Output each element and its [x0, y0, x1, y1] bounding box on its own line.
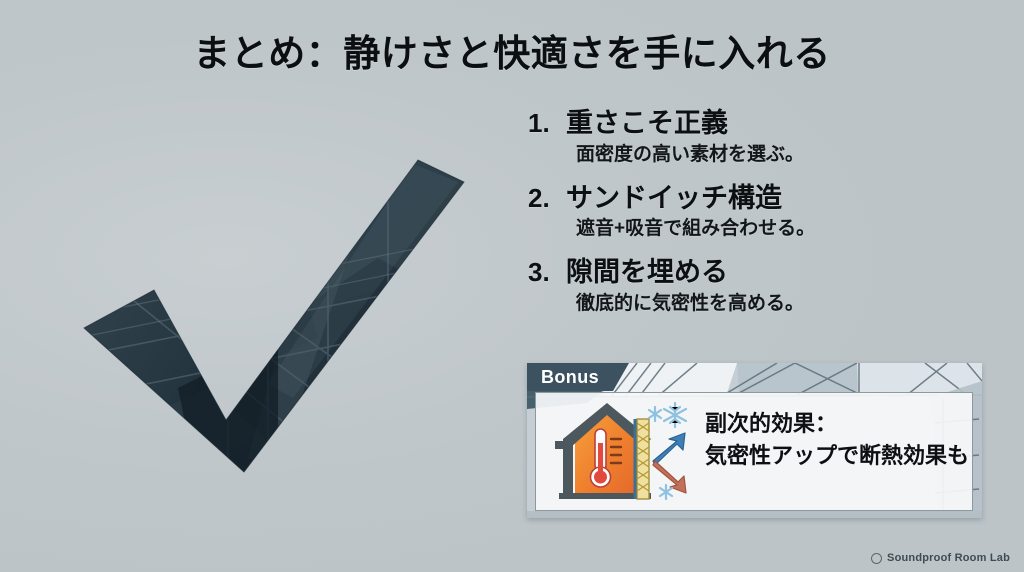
checkmark-photo — [78, 138, 470, 486]
copyright-icon — [871, 553, 882, 564]
list-item: 3. 隙間を埋める 徹底的に気密性を高める。 — [528, 257, 948, 316]
footer-copyright: Soundproof Room Lab — [871, 552, 1010, 564]
list-item: 2. サンドイッチ構造 遮音+吸音で組み合わせる。 — [528, 183, 948, 242]
list-item-number: 1. — [528, 108, 566, 139]
summary-list: 1. 重さこそ正義 面密度の高い素材を選ぶ。 2. サンドイッチ構造 遮音+吸音… — [528, 108, 948, 332]
bonus-card: Bonus — [527, 363, 982, 518]
bonus-text: 副次的効果： 気密性アップで断熱効果も — [705, 408, 969, 472]
copyright-text: Soundproof Room Lab — [887, 552, 1010, 564]
list-item-subtext: 徹底的に気密性を高める。 — [576, 292, 948, 316]
list-item-number: 3. — [528, 257, 566, 288]
bonus-text-line2: 気密性アップで断熱効果も — [705, 440, 969, 472]
list-item-heading: 重さこそ正義 — [566, 108, 728, 140]
list-item-heading-row: 3. 隙間を埋める — [528, 257, 948, 289]
insulated-house-thermometer-icon — [549, 393, 699, 508]
list-item-heading-row: 1. 重さこそ正義 — [528, 108, 948, 140]
list-item-subtext: 遮音+吸音で組み合わせる。 — [576, 217, 948, 241]
list-item-number: 2. — [528, 183, 566, 214]
bonus-badge: Bonus — [527, 363, 629, 391]
bonus-text-line1: 副次的効果： — [705, 408, 969, 440]
list-item-subtext: 面密度の高い素材を選ぶ。 — [576, 143, 948, 167]
page-title: まとめ：静けさと快適さを手に入れる — [0, 32, 1024, 76]
slide-root: まとめ：静けさと快適さを手に入れる — [0, 0, 1024, 572]
list-item-heading-row: 2. サンドイッチ構造 — [528, 183, 948, 215]
list-item: 1. 重さこそ正義 面密度の高い素材を選ぶ。 — [528, 108, 948, 167]
list-item-heading: サンドイッチ構造 — [566, 183, 782, 215]
list-item-heading: 隙間を埋める — [566, 257, 728, 289]
